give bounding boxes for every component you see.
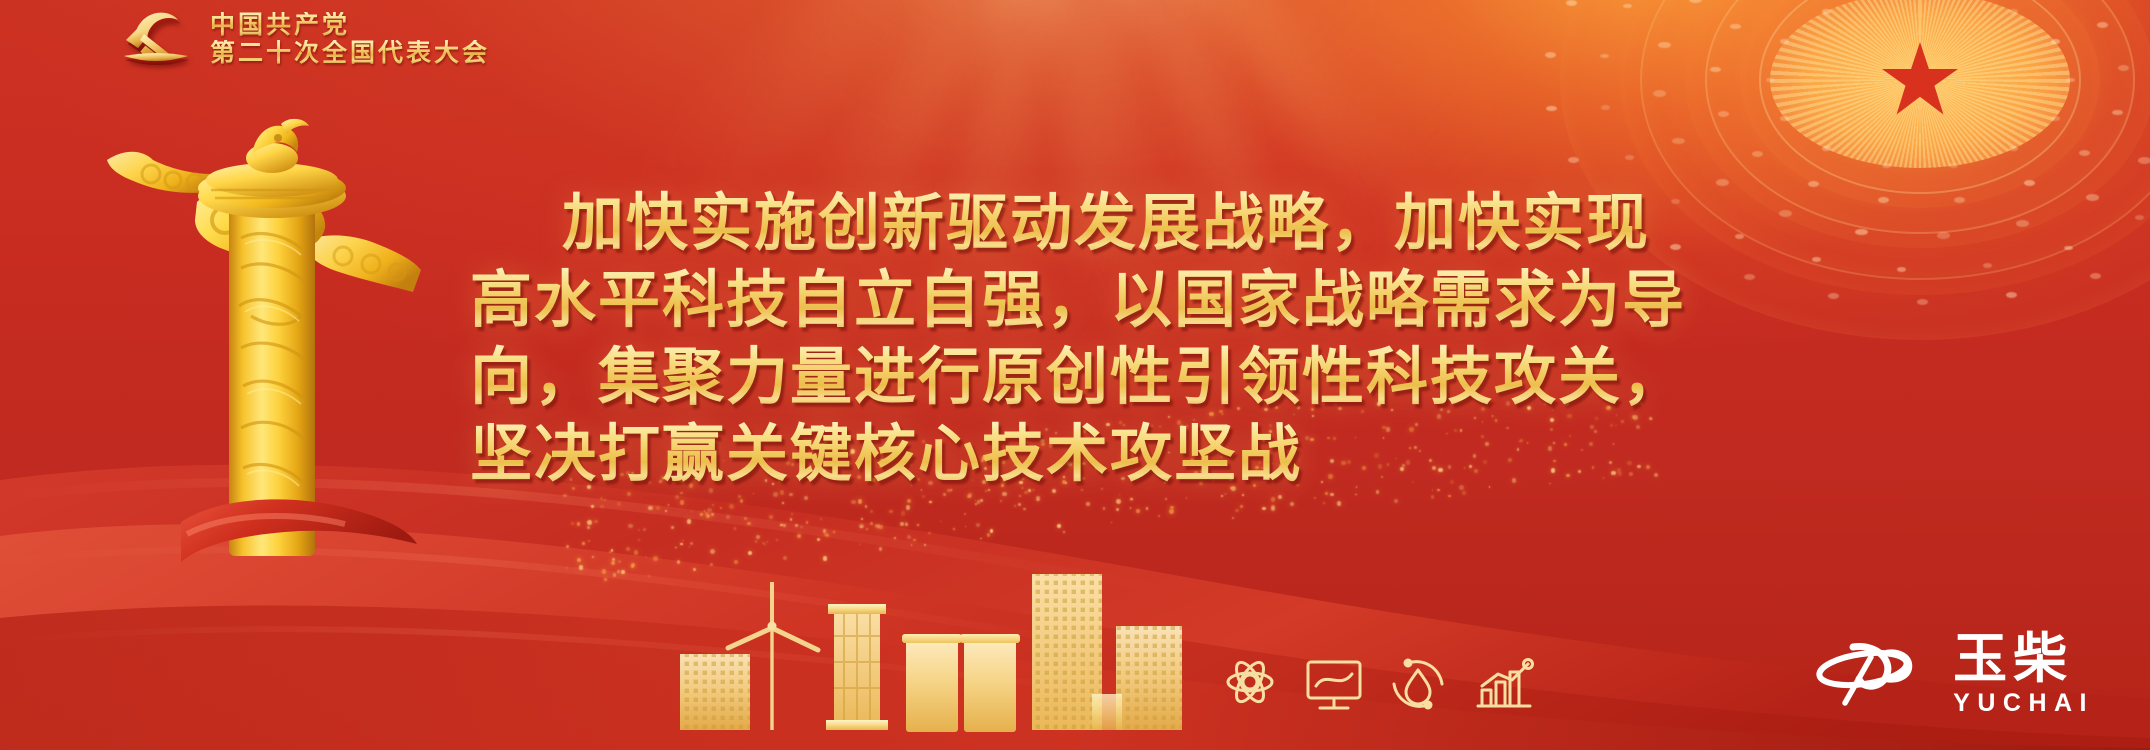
headline-line-4: 坚决打赢关键核心技术攻坚战 xyxy=(470,416,1770,493)
headline-line-2: 高水平科技自立自强，以国家战略需求为导 xyxy=(470,262,1770,339)
yuchai-brand-logo: 玉柴 YUCHAI xyxy=(1815,633,2094,716)
headline-line-3: 向，集聚力量进行原创性引领性科技攻关， xyxy=(470,339,1770,416)
headline-line-1: 加快实施创新驱动发展战略，加快实现 xyxy=(470,185,1770,262)
hammer-and-sickle-emblem xyxy=(118,6,196,72)
yuchai-wordmark: 玉柴 YUCHAI xyxy=(1953,633,2094,716)
headline-block: 加快实施创新驱动发展战略，加快实现 高水平科技自立自强，以国家战略需求为导 向，… xyxy=(470,185,1770,493)
cpc-logo-line2: 第二十次全国代表大会 xyxy=(210,40,490,67)
cpc-congress-logo: 中国共产党 第二十次全国代表大会 xyxy=(118,6,490,72)
cpc-logo-line1: 中国共产党 xyxy=(210,12,490,39)
congress-slogan-banner: 中国共产党 第二十次全国代表大会 xyxy=(0,0,2150,750)
yuchai-name-cn: 玉柴 xyxy=(1953,633,2094,686)
yuchai-name-en: YUCHAI xyxy=(1953,690,2094,716)
yuchai-orbit-emblem xyxy=(1815,639,1933,709)
cpc-logo-text: 中国共产党 第二十次全国代表大会 xyxy=(210,12,490,67)
